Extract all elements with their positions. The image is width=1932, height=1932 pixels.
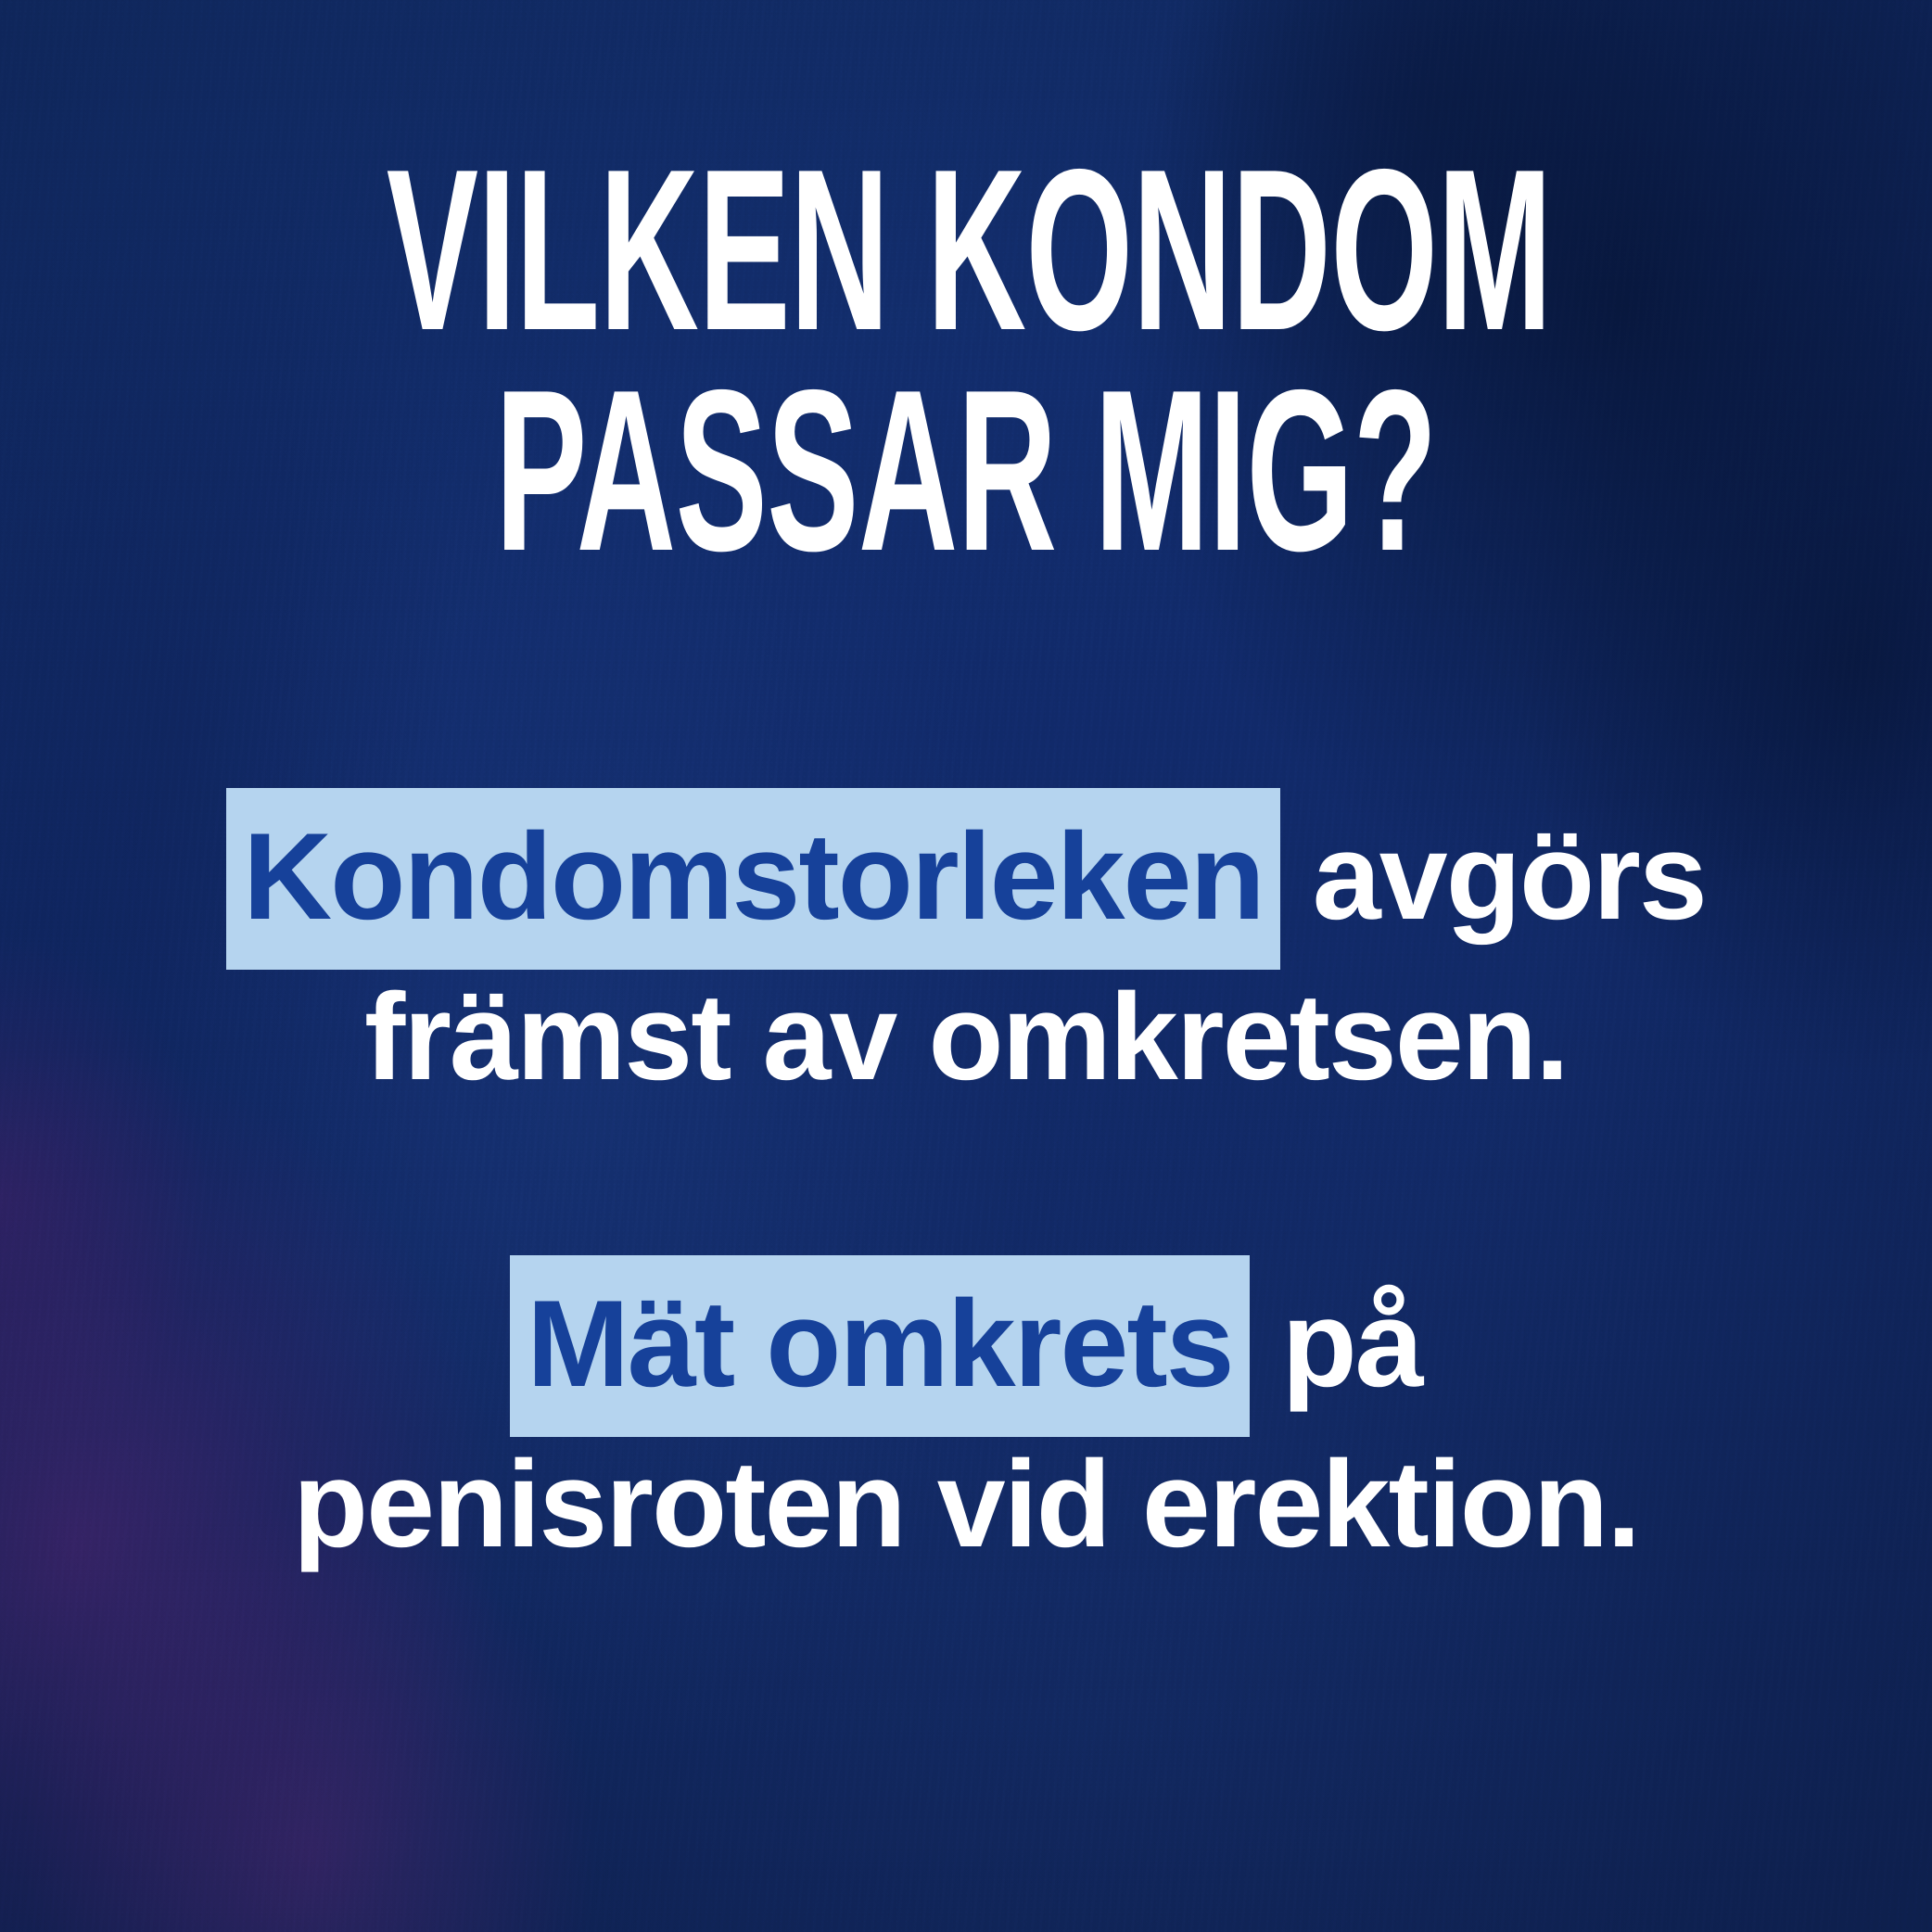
highlight-kondomstorleken: Kondomstorleken — [226, 788, 1280, 970]
poster-canvas: VILKEN KONDOM PASSAR MIG? Kondomstorleke… — [0, 0, 1932, 1932]
paragraph-2-line-1: Mät omkrets på — [85, 1265, 1847, 1425]
paragraph-1-line-2: främst av omkretsen. — [85, 958, 1847, 1118]
highlight-mat-omkrets: Mät omkrets — [510, 1255, 1249, 1437]
paragraph-2-line-2-text: penisroten vid erektion. — [293, 1436, 1639, 1573]
paragraph-1-line-1-tail: avgörs — [1280, 808, 1706, 946]
paragraph-1-line-2-text: främst av omkretsen. — [364, 969, 1568, 1106]
headline-line-2: PASSAR MIG? — [387, 360, 1545, 580]
paragraph-1-line-1: Kondomstorleken avgörs — [85, 797, 1847, 958]
paragraph-1: Kondomstorleken avgörs främst av omkrets… — [85, 797, 1847, 1118]
paragraph-2-line-1-tail: på — [1250, 1276, 1422, 1413]
poster-content: VILKEN KONDOM PASSAR MIG? Kondomstorleke… — [0, 0, 1932, 1932]
paragraph-2-line-2: penisroten vid erektion. — [85, 1425, 1847, 1585]
paragraph-2: Mät omkrets på penisroten vid erektion. — [85, 1265, 1847, 1585]
body-block: Kondomstorleken avgörs främst av omkrets… — [0, 797, 1932, 1585]
headline-line-1: VILKEN KONDOM — [387, 139, 1545, 360]
headline: VILKEN KONDOM PASSAR MIG? — [0, 139, 1932, 580]
